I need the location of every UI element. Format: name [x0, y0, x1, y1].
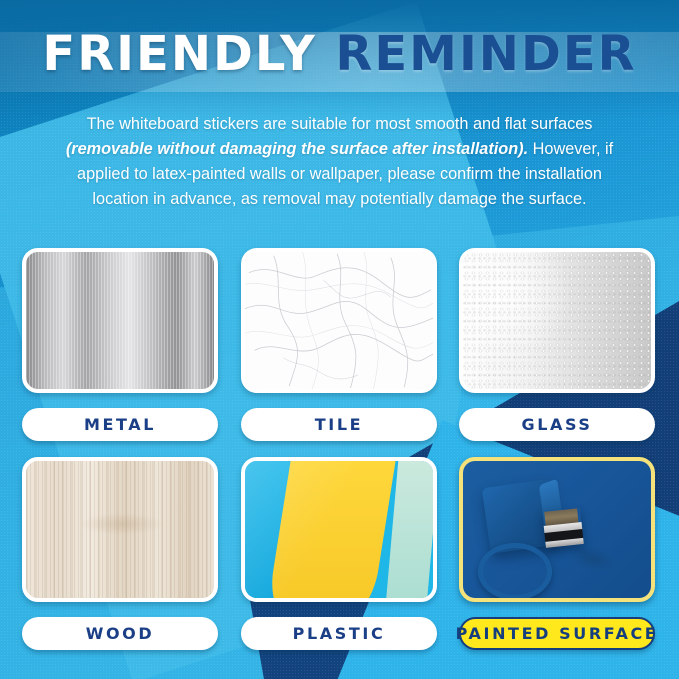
- plastic-gloss-overlay: [245, 461, 433, 598]
- surface-label-painted-surface: PAINTED SURFACE: [459, 617, 655, 650]
- surface-label-plastic: PLASTIC: [241, 617, 437, 650]
- surface-card-plastic[interactable]: PLASTIC: [241, 457, 437, 653]
- color-plastic-texture: [245, 461, 433, 598]
- paint-roller-ring-shape: [478, 543, 552, 600]
- notice-text-part-one: The whiteboard stickers are suitable for…: [87, 115, 593, 133]
- surface-label-plastic-text: PLASTIC: [293, 624, 386, 643]
- surface-card-wood[interactable]: WOOD: [22, 457, 218, 653]
- swatch-metal: [22, 248, 218, 393]
- paint-supplies-photo: [463, 461, 651, 598]
- surface-label-tile: TILE: [241, 408, 437, 441]
- swatch-plastic: [241, 457, 437, 602]
- notice-paragraph: The whiteboard stickers are suitable for…: [52, 112, 627, 212]
- page-title-word-one: FRIENDLY: [42, 26, 316, 82]
- surface-label-metal-text: METAL: [84, 415, 156, 434]
- surface-label-metal: METAL: [22, 408, 218, 441]
- swatch-wood: [22, 457, 218, 602]
- surface-label-glass-text: GLASS: [521, 415, 592, 434]
- white-marble-texture: [245, 252, 433, 389]
- glass-bump-pattern-secondary: [463, 252, 651, 389]
- frosted-glass-texture: [463, 252, 651, 389]
- paint-shadow-splash: [566, 540, 619, 576]
- surface-card-metal[interactable]: METAL: [22, 248, 218, 444]
- swatch-tile: [241, 248, 437, 393]
- swatch-painted-surface: [459, 457, 655, 602]
- light-wood-texture: [26, 461, 214, 598]
- surface-card-glass[interactable]: GLASS: [459, 248, 655, 444]
- poster-canvas: FRIENDLY REMINDER The whiteboard sticker…: [0, 0, 679, 679]
- surface-card-painted-surface[interactable]: PAINTED SURFACE: [459, 457, 655, 653]
- surface-card-tile[interactable]: TILE: [241, 248, 437, 444]
- wood-grain-knot: [79, 513, 165, 535]
- surface-label-wood-text: WOOD: [86, 624, 155, 643]
- brushed-metal-texture: [26, 252, 214, 389]
- surface-label-tile-text: TILE: [315, 415, 363, 434]
- marble-vein-lines: [245, 252, 433, 389]
- notice-text-emphasis: (removable without damaging the surface …: [66, 140, 528, 158]
- swatch-glass: [459, 248, 655, 393]
- surface-label-glass: GLASS: [459, 408, 655, 441]
- surface-label-wood: WOOD: [22, 617, 218, 650]
- page-title: FRIENDLY REMINDER: [0, 26, 679, 82]
- paint-brush-icon: [542, 508, 583, 547]
- surface-label-painted-surface-text: PAINTED SURFACE: [456, 624, 659, 643]
- page-title-word-two: REMINDER: [335, 26, 636, 82]
